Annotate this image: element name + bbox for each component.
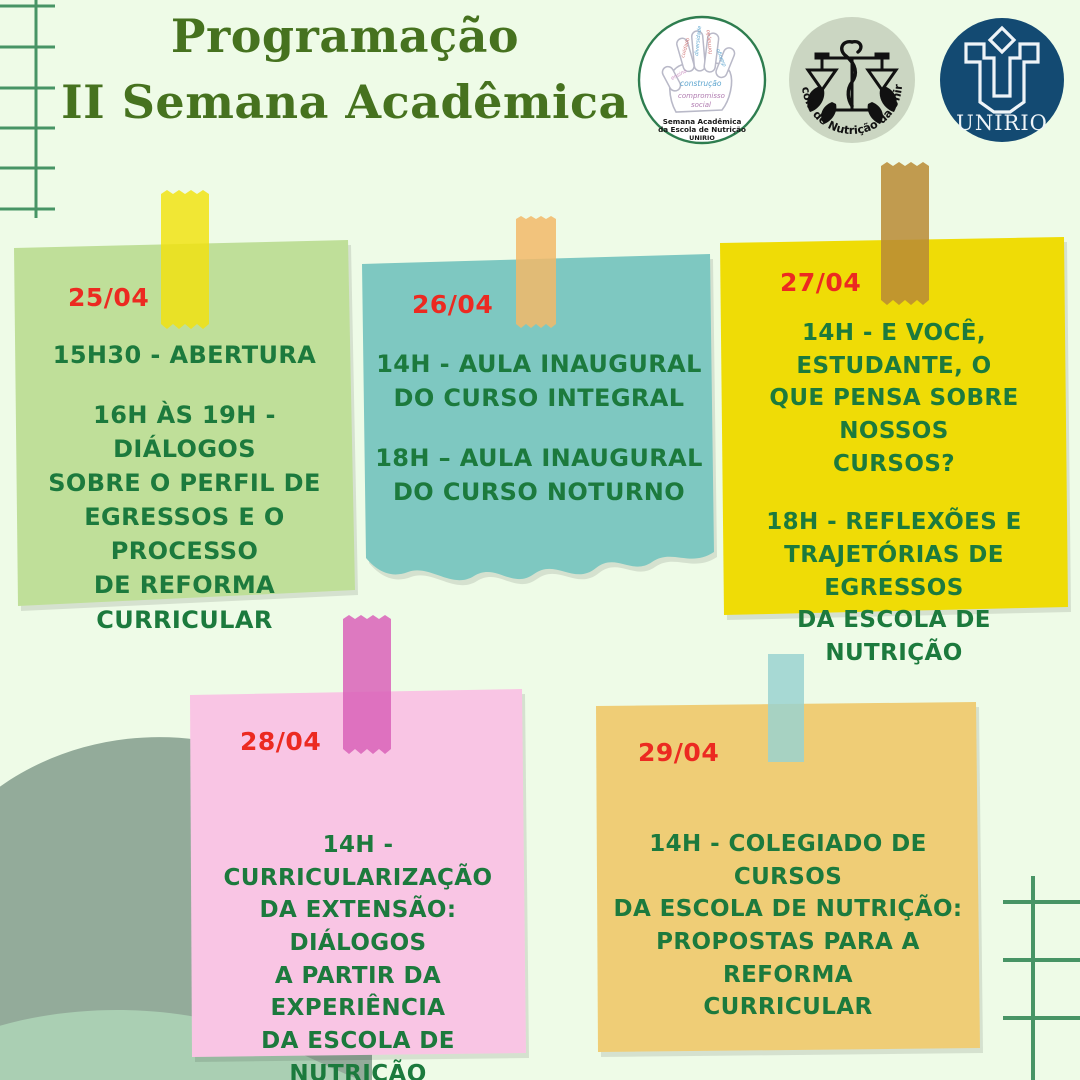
svg-text:social: social <box>691 101 711 109</box>
card-body: 14H - AULA INAUGURAL DO CURSO INTEGRAL 1… <box>360 347 718 509</box>
tape-strip-teal <box>766 652 806 768</box>
unirio-icon: UNIRIO <box>936 14 1068 146</box>
page-title: Programação II Semana Acadêmica <box>60 8 630 131</box>
schedule-card-25-04[interactable]: 25/04 15H30 - ABERTURA 16H ÀS 19H - DIÁL… <box>12 238 357 613</box>
card-line: SOBRE O PERFIL DE <box>22 466 347 500</box>
card-line: DO CURSO NOTURNO <box>370 475 708 509</box>
card-line: 16H ÀS 19H - DIÁLOGOS <box>22 398 347 466</box>
card-line: 18H - REFLEXÕES E <box>728 506 1060 539</box>
block-gap <box>22 372 347 398</box>
card-date: 27/04 <box>780 268 861 297</box>
poster-header: Programação II Semana Acadêmica <box>0 0 1080 175</box>
card-body: 15H30 - ABERTURA 16H ÀS 19H - DIÁLOGOS S… <box>12 338 357 637</box>
card-line: 18H – AULA INAUGURAL <box>370 441 708 475</box>
title-line-2: II Semana Acadêmica <box>60 74 630 132</box>
card-line: TRAJETÓRIAS DE EGRESSOS <box>728 539 1060 604</box>
tape-strip-yellow <box>159 188 211 337</box>
card-line: 15H30 - ABERTURA <box>22 338 347 372</box>
poster-canvas: Programação II Semana Acadêmica <box>0 0 1080 1080</box>
card-date: 26/04 <box>412 290 493 319</box>
title-line-1: Programação <box>60 8 630 66</box>
card-body: 14H - CURRICULARIZAÇÃO DA EXTENSÃO: DIÁL… <box>188 829 528 1080</box>
card-body: 14H - E VOCÊ, ESTUDANTE, O QUE PENSA SOB… <box>718 317 1070 670</box>
svg-text:UNIRIO: UNIRIO <box>956 111 1048 135</box>
schedule-card-28-04[interactable]: 28/04 14H - CURRICULARIZAÇÃO DA EXTENSÃO… <box>188 687 528 1060</box>
svg-text:compromisso: compromisso <box>678 92 725 100</box>
card-line: DE REFORMA CURRICULAR <box>22 568 347 636</box>
card-line: QUE PENSA SOBRE NOSSOS <box>728 382 1060 447</box>
tape-strip-brown <box>879 160 929 314</box>
card-line: 14H - CURRICULARIZAÇÃO <box>198 829 518 894</box>
svg-text:construção: construção <box>680 79 722 88</box>
logo-row: ensino cuidado diversidade formação diál… <box>636 14 1068 146</box>
semana-academica-hand-icon: ensino cuidado diversidade formação diál… <box>636 14 768 146</box>
card-date: 28/04 <box>240 727 321 756</box>
svg-text:da Escola de Nutrição: da Escola de Nutrição <box>658 125 746 134</box>
card-line: 14H - E VOCÊ, ESTUDANTE, O <box>728 317 1060 382</box>
card-line: CURSOS? <box>728 448 1060 481</box>
card-line: PROPOSTAS PARA A REFORMA <box>604 926 972 991</box>
card-line: DO CURSO INTEGRAL <box>370 381 708 415</box>
card-date: 29/04 <box>638 738 719 767</box>
card-date: 25/04 <box>68 283 149 312</box>
card-line: A PARTIR DA EXPERIÊNCIA <box>198 960 518 1025</box>
card-line: CURRICULAR <box>604 991 972 1024</box>
schedule-card-26-04[interactable]: 26/04 14H - AULA INAUGURAL DO CURSO INTE… <box>360 252 718 598</box>
schedule-card-29-04[interactable]: 29/04 14H - COLEGIADO DE CURSOS DA ESCOL… <box>594 700 982 1055</box>
card-body: 14H - COLEGIADO DE CURSOS DA ESCOLA DE N… <box>594 828 982 1024</box>
svg-text:UNIRIO: UNIRIO <box>689 134 715 142</box>
card-line: DA EXTENSÃO: DIÁLOGOS <box>198 894 518 959</box>
schedule-card-27-04[interactable]: 27/04 14H - E VOCÊ, ESTUDANTE, O QUE PEN… <box>718 235 1070 621</box>
card-line: 14H - AULA INAUGURAL <box>370 347 708 381</box>
card-line: DA ESCOLA DE NUTRIÇÃO: <box>604 893 972 926</box>
card-line: DA ESCOLA DE NUTRIÇÃO <box>198 1025 518 1080</box>
block-gap <box>370 415 708 441</box>
escola-de-nutricao-seal-icon: Escola de Nutrição da Unirio <box>786 14 918 146</box>
block-gap <box>728 480 1060 506</box>
tape-strip-orange <box>514 214 556 336</box>
tape-strip-magenta <box>341 613 391 763</box>
card-line: EGRESSOS E O PROCESSO <box>22 500 347 568</box>
card-line: 14H - COLEGIADO DE CURSOS <box>604 828 972 893</box>
